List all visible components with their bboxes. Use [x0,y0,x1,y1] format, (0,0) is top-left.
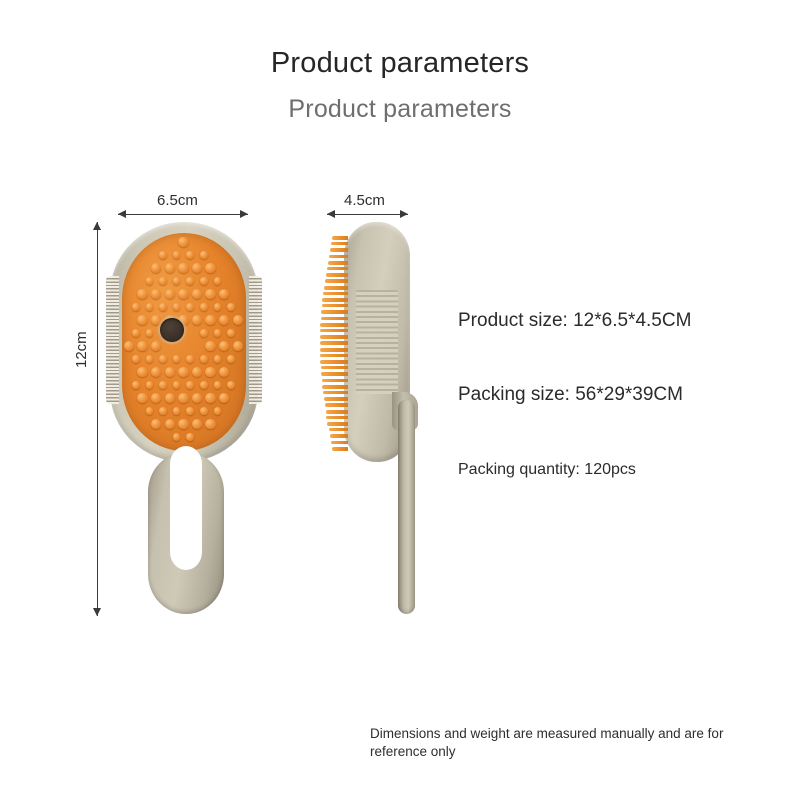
dimension-label-height: 12cm [73,331,90,368]
silicone-bump [219,289,230,300]
spec-product-size: Product size: 12*6.5*4.5CM [458,310,691,332]
silicone-bump [233,341,244,352]
silicone-bump [214,277,222,285]
silicone-bump [137,393,148,404]
silicone-bump [151,263,162,274]
silicone-bump [219,367,230,378]
spec-packing-size: Packing size: 56*29*39CM [458,384,683,406]
bristle [320,335,348,339]
silicone-bump [173,277,181,285]
bristle [330,434,348,438]
dimension-label-width-front: 6.5cm [157,192,198,209]
silicone-bump [159,277,167,285]
center-hole [160,318,184,342]
silicone-bump [186,355,194,363]
silicone-bump [151,289,162,300]
arrow-line [97,222,98,616]
bristle [321,366,348,369]
silicone-bump [165,393,176,404]
bristle [321,310,348,314]
bristle [331,441,348,444]
bristle [329,255,348,258]
bristle [322,379,348,382]
silicone-bump [132,355,140,363]
bristle [320,348,348,352]
silicone-bump [200,303,208,311]
bristle [323,292,348,295]
silicone-bump [192,289,203,300]
silicone-bump [186,303,194,311]
silicone-bump [205,289,216,300]
silicone-bump [132,381,140,389]
silicone-bump [178,367,189,378]
silicone-bump [151,393,162,404]
silicone-bump [137,367,148,378]
silicone-bump [178,263,189,274]
bristle [321,372,348,376]
bristle [320,329,348,332]
bristle [329,428,348,431]
product-front-view [110,222,258,462]
silicone-bump [151,367,162,378]
silicone-bump [205,393,216,404]
silicone-bump [178,419,189,430]
arrow-line [327,214,408,215]
silicone-bump [173,355,181,363]
bristle [320,354,348,357]
silicone-bump [124,341,135,352]
silicone-bump [173,433,181,441]
silicone-bump [214,329,222,337]
silicone-bump [146,381,154,389]
silicone-bump [146,303,154,311]
handle-loop-opening [170,446,202,570]
silicone-bump [137,341,148,352]
page-title: Product parameters [0,47,800,80]
silicone-bump [219,341,230,352]
dimension-arrow-width-side [327,210,408,219]
silicone-bump [205,419,216,430]
silicone-bump [178,237,189,248]
silicone-bump [186,433,194,441]
bristle [327,422,348,426]
dimension-arrow-width-front [118,210,248,219]
bristle [323,391,348,394]
silicone-bump [219,315,230,326]
bristle [326,416,348,419]
silicone-bump [205,367,216,378]
silicone-bump [227,329,235,337]
silicone-bump [205,341,216,352]
bristle [322,385,348,389]
product-parameters-page: Product parameters Product parameters 6.… [0,0,800,800]
silicone-bump [137,289,148,300]
silicone-bump [151,341,162,352]
silicone-bump [192,263,203,274]
silicone-bump [200,407,208,415]
silicone-bump [159,381,167,389]
silicone-bump [233,315,244,326]
bristle [325,279,348,282]
silicone-bump-pad [122,233,246,451]
comb-teeth-right [249,276,262,404]
silicone-bump [151,419,162,430]
silicone-bump [173,251,181,259]
bristle [321,317,348,320]
silicone-bump [165,419,176,430]
arrow-head-right-icon [240,210,248,218]
silicone-bump [186,407,194,415]
silicone-bump [214,381,222,389]
silicone-bump [214,303,222,311]
spec-packing-quantity: Packing quantity: 120pcs [458,461,636,479]
bristle [331,242,348,245]
silicone-bump [173,407,181,415]
silicone-bump [227,303,235,311]
silicone-bump [205,315,216,326]
bristle [332,447,348,451]
silicone-bump [137,315,148,326]
silicone-bump [200,355,208,363]
bristle [332,236,348,240]
bristle [322,298,348,302]
silicone-bump [146,277,154,285]
silicone-bump [200,381,208,389]
silicone-bump [132,329,140,337]
arrow-line [118,214,248,215]
bristle [326,273,348,277]
silicone-bump [205,263,216,274]
silicone-bump [200,329,208,337]
bristle [320,360,348,364]
bristle [327,267,348,270]
bristle [325,403,348,406]
bristle [320,323,348,327]
dimension-arrow-height [93,222,102,616]
silicone-bump [151,315,162,326]
silicone-bump [200,251,208,259]
arrow-head-left-icon [327,210,335,218]
bristle [320,341,348,344]
silicone-bump [186,381,194,389]
silicone-bump [227,381,235,389]
brush-handle-front [148,452,224,614]
brush-handle-side [398,400,415,614]
silicone-bump [165,367,176,378]
silicone-bump [159,407,167,415]
silicone-bump [178,393,189,404]
silicone-bump [132,303,140,311]
silicone-bump [173,381,181,389]
silicone-bump [200,277,208,285]
silicone-bump [178,289,189,300]
comb-teeth-left [106,276,119,404]
silicone-bump [146,355,154,363]
dimension-label-width-side: 4.5cm [344,192,385,209]
arrow-head-right-icon [400,210,408,218]
silicone-bump [159,355,167,363]
bristle [326,410,348,414]
silicone-bump [165,263,176,274]
silicone-bump [173,303,181,311]
silicone-bump [227,355,235,363]
silicone-bump [214,355,222,363]
silicone-bump [146,407,154,415]
bristle [324,397,348,401]
measurement-disclaimer: Dimensions and weight are measured manua… [370,725,770,761]
silicone-bump [186,277,194,285]
silicone-bump [192,419,203,430]
silicone-bump [192,393,203,404]
arrow-head-top-icon [93,222,101,230]
silicone-bump [159,303,167,311]
silicone-bump [214,407,222,415]
silicone-bump [192,367,203,378]
bristle [322,304,348,307]
arrow-head-bottom-icon [93,608,101,616]
silicone-bump [219,393,230,404]
page-subtitle: Product parameters [0,95,800,124]
bristle [328,261,348,265]
silicone-bump [165,289,176,300]
silicone-bump [186,251,194,259]
bristle [330,248,348,252]
silicone-bump [146,329,154,337]
comb-teeth-side [356,290,398,394]
bristle [324,286,348,290]
arrow-head-left-icon [118,210,126,218]
silicone-bump [159,251,167,259]
silicone-bump [192,315,203,326]
